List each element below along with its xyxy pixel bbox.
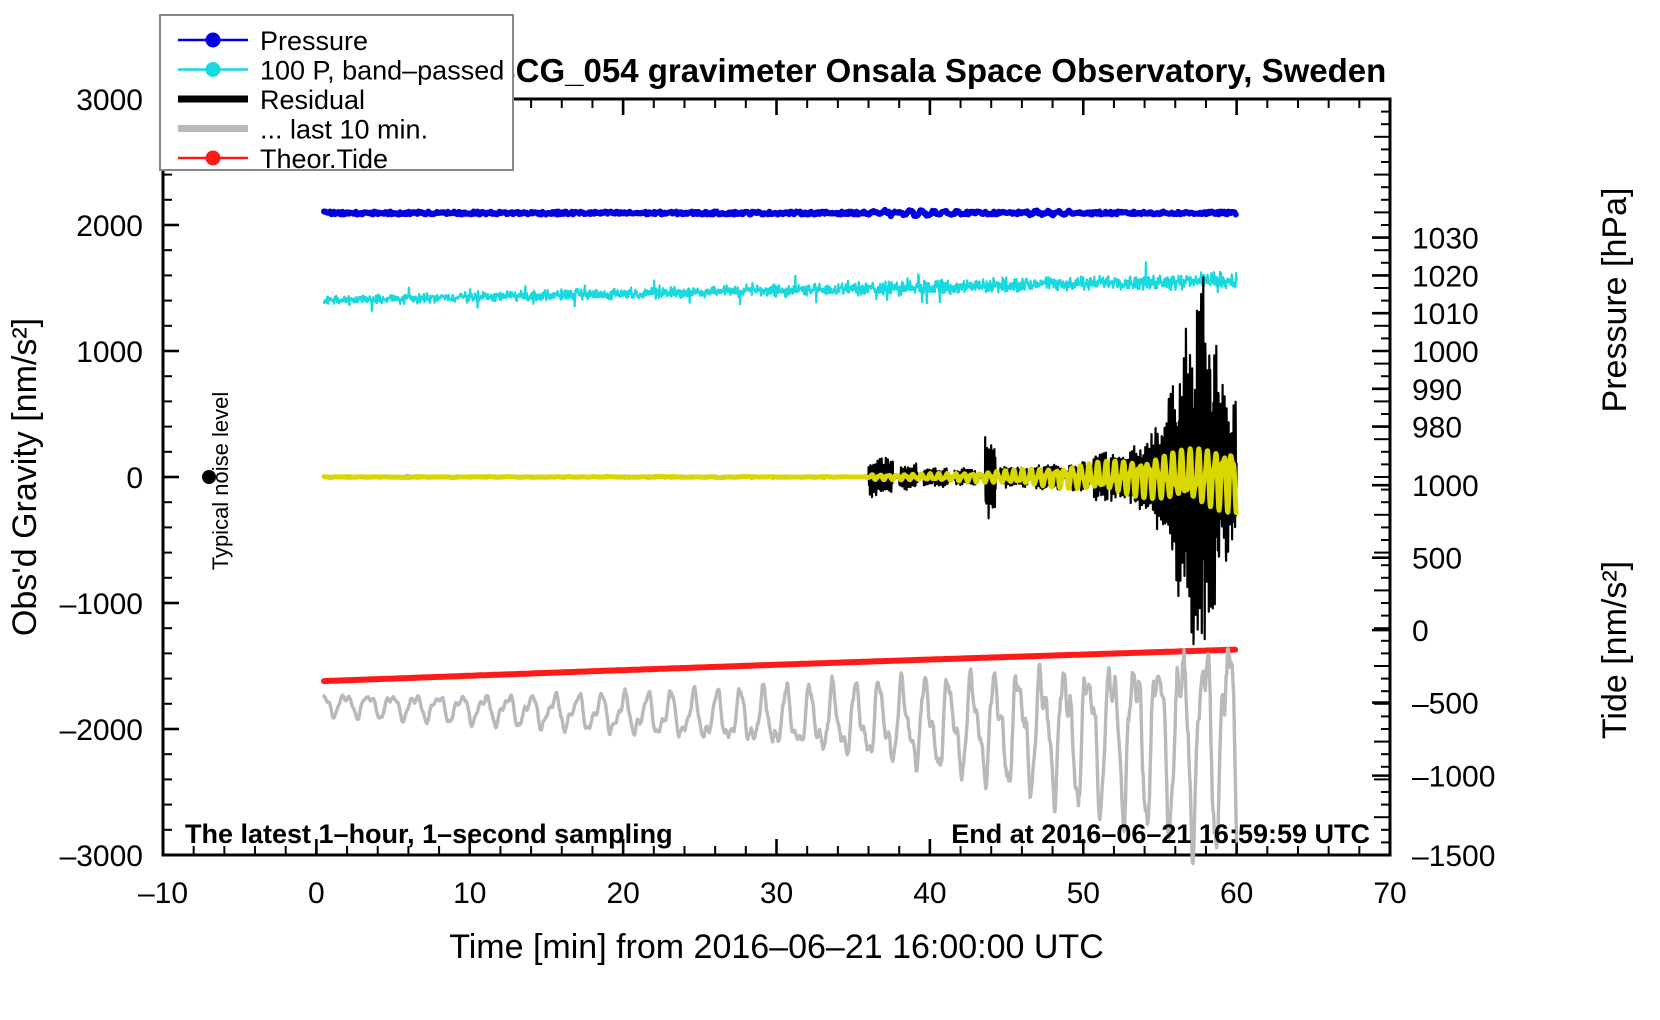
trace-bandpassed	[324, 262, 1237, 311]
y-axis-left: –3000–2000–10000100020003000	[60, 84, 179, 873]
x-tick-label: 10	[453, 877, 486, 910]
sampling-note: The latest 1–hour, 1–second sampling	[185, 819, 673, 849]
tide-tick-label: 500	[1412, 543, 1462, 576]
pressure-tick-label: 990	[1412, 374, 1462, 407]
chart-canvas: –10010203040506070Time [min] from 2016–0…	[0, 0, 1660, 1020]
tide-tick-label: 0	[1412, 615, 1429, 648]
pressure-tick-label: 1000	[1412, 336, 1479, 369]
y-tick-label: –2000	[60, 714, 143, 747]
tide-tick-label: –500	[1412, 688, 1479, 721]
y-tick-label: 3000	[76, 84, 143, 117]
legend-swatch-dot	[206, 33, 221, 48]
gravimeter-chart: –10010203040506070Time [min] from 2016–0…	[0, 0, 1660, 1020]
tide-tick-label: 1000	[1412, 470, 1479, 503]
trace-pressure	[324, 210, 1236, 216]
x-tick-label: 20	[606, 877, 639, 910]
tide-tick-label: –1500	[1412, 840, 1495, 873]
end-time-note: End at 2016–06–21 16:59:59 UTC	[951, 819, 1370, 849]
noise-level-marker	[202, 470, 216, 484]
y-axis-title-left: Obs'd Gravity [nm/s²]	[6, 318, 44, 636]
legend-swatch-dot	[206, 62, 221, 77]
x-tick-label: 70	[1373, 877, 1406, 910]
legend-item-label: ... last 10 min.	[260, 115, 428, 145]
x-tick-label: 40	[913, 877, 946, 910]
y-tick-label: 0	[126, 462, 143, 495]
x-tick-label: 30	[760, 877, 793, 910]
legend-item-label: Residual	[260, 85, 365, 115]
pressure-tick-label: 1010	[1412, 298, 1479, 331]
pressure-tick-label: 1020	[1412, 260, 1479, 293]
x-tick-label: 50	[1067, 877, 1100, 910]
chart-title: SCG_054 gravimeter Onsala Space Observat…	[494, 52, 1387, 89]
y-axis-title-tide: Tide [nm/s²]	[1596, 561, 1634, 739]
y-tick-label: 2000	[76, 210, 143, 243]
trace-theoretical-tide	[324, 650, 1235, 682]
y-tick-label: –1000	[60, 588, 143, 621]
pressure-tick-label: 980	[1412, 412, 1462, 445]
legend-swatch-dot	[206, 151, 221, 166]
x-tick-label: –10	[138, 877, 188, 910]
pressure-tick-label: 1030	[1412, 223, 1479, 256]
x-axis-title: Time [min] from 2016–06–21 16:00:00 UTC	[449, 928, 1104, 966]
legend-item-label: 100 P, band–passed	[260, 56, 504, 86]
y-tick-label: 1000	[76, 336, 143, 369]
legend-item-label: Theor.Tide	[260, 144, 388, 174]
tide-tick-label: –1000	[1412, 761, 1495, 794]
y-axis-title-pressure: Pressure [hPa]	[1596, 188, 1634, 413]
x-tick-label: 60	[1220, 877, 1253, 910]
legend: Pressure100 P, band–passedResidual... la…	[160, 15, 513, 174]
y-tick-label: –3000	[60, 840, 143, 873]
data-traces	[324, 210, 1237, 864]
legend-item-label: Pressure	[260, 26, 368, 56]
x-tick-label: 0	[308, 877, 325, 910]
